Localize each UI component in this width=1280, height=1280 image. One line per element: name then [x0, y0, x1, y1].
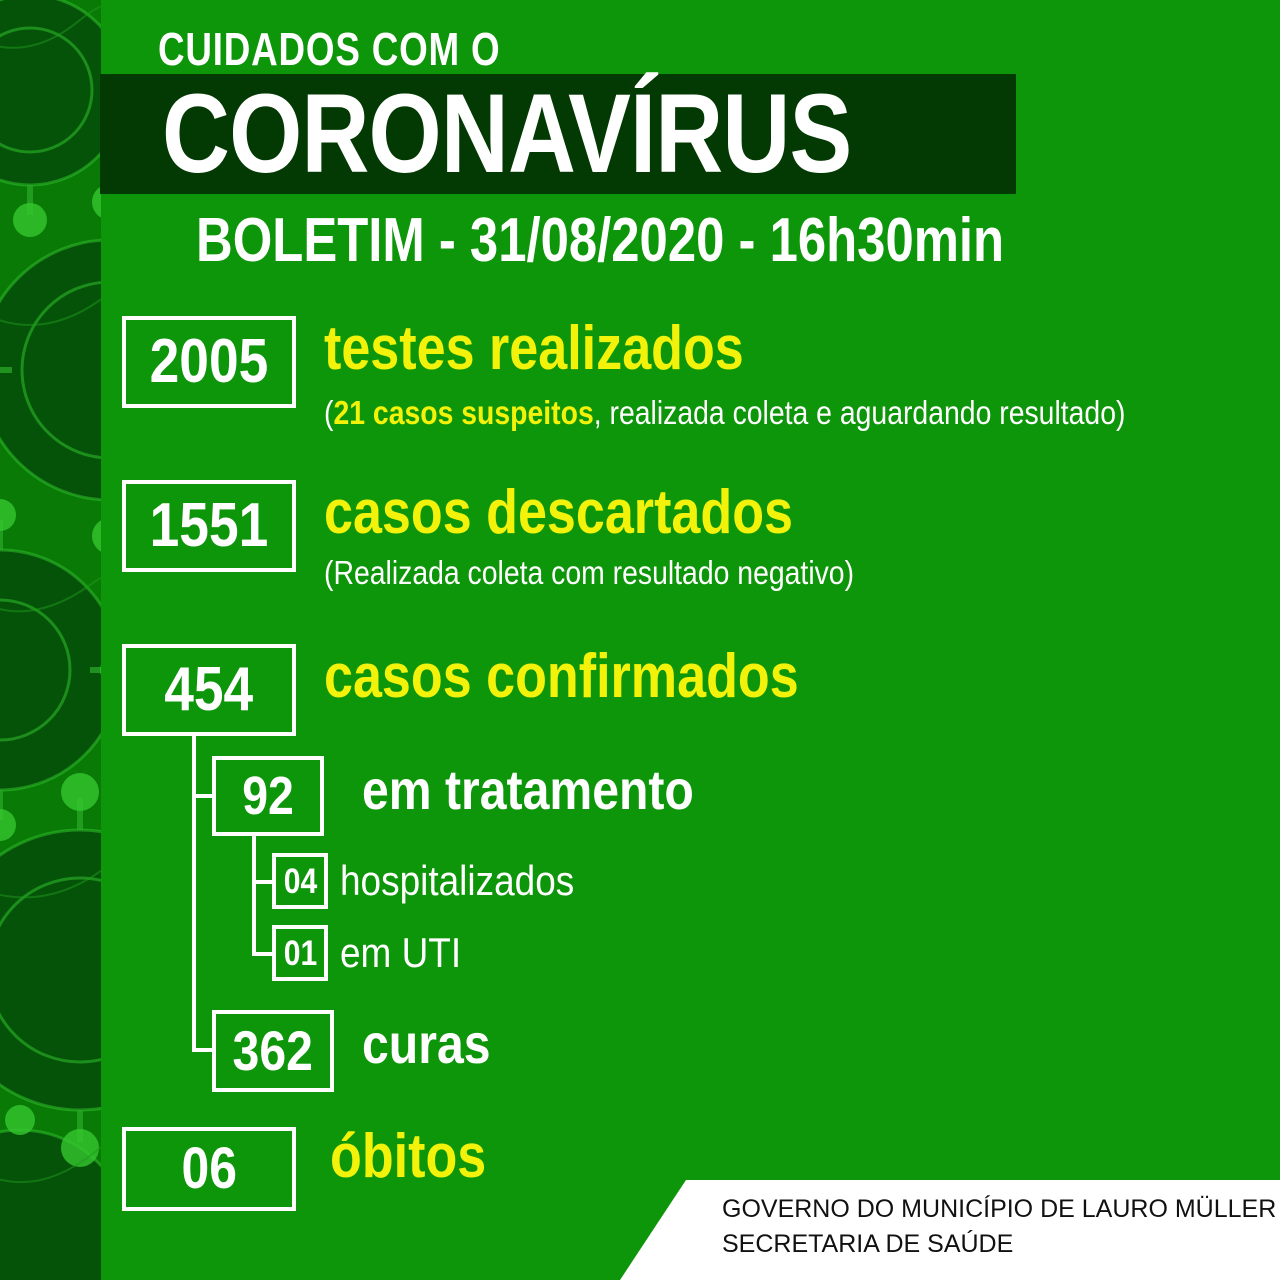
cured-value: 362: [233, 1023, 313, 1079]
icu-value-box: 01: [272, 925, 328, 981]
bulletin-subtitle: BOLETIM - 31/08/2020 - 16h30min: [196, 210, 1004, 272]
tree-trunk-treatment: [252, 836, 256, 956]
tests-note-open: (: [324, 394, 333, 431]
discarded-label: casos descartados: [324, 482, 793, 544]
tests-label: testes realizados: [324, 318, 744, 380]
icu-value: 01: [283, 936, 316, 971]
deaths-value-box: 06: [122, 1127, 296, 1211]
confirmed-value-box: 454: [122, 644, 296, 736]
treatment-value: 92: [242, 769, 294, 823]
discarded-value: 1551: [150, 495, 269, 557]
treatment-value-box: 92: [212, 756, 324, 836]
hospitalized-value-box: 04: [272, 853, 328, 909]
tests-value-box: 2005: [122, 316, 296, 408]
icu-label: em UTI: [340, 932, 461, 974]
hospitalized-label: hospitalizados: [340, 860, 574, 902]
footer-white-shape: [620, 1180, 1280, 1280]
kicker-text: CUIDADOS COM O: [158, 22, 500, 76]
footer-attribution: GOVERNO DO MUNICÍPIO DE LAURO MÜLLER SEC…: [722, 1192, 1276, 1262]
tests-note-highlight: 21 casos suspeitos: [333, 394, 593, 431]
footer-line-government: GOVERNO DO MUNICÍPIO DE LAURO MÜLLER: [722, 1192, 1276, 1227]
deaths-value: 06: [181, 1140, 236, 1198]
hospitalized-value: 04: [283, 864, 316, 899]
cured-label: curas: [362, 1016, 491, 1072]
cured-value-box: 362: [212, 1010, 334, 1092]
discarded-value-box: 1551: [122, 480, 296, 572]
tree-branch-treatment: [192, 794, 214, 798]
page-title: CORONAVÍRUS: [162, 78, 851, 190]
discarded-note: (Realizada coleta com resultado negativo…: [324, 556, 854, 589]
deaths-label: óbitos: [330, 1126, 486, 1188]
tree-branch-icu: [252, 952, 274, 956]
confirmed-value: 454: [165, 659, 254, 721]
tree-trunk-confirmed: [192, 736, 196, 1052]
tests-note-rest: , realizada coleta e aguardando resultad…: [594, 394, 1126, 431]
treatment-label: em tratamento: [362, 762, 694, 818]
virus-graphic-strip: [0, 0, 101, 1280]
footer-line-department: SECRETARIA DE SAÚDE: [722, 1227, 1276, 1262]
virus-illustration: [0, 0, 101, 1280]
tests-note: (21 casos suspeitos, realizada coleta e …: [324, 396, 1125, 429]
confirmed-label: casos confirmados: [324, 646, 799, 708]
tests-value: 2005: [150, 331, 269, 393]
tree-branch-hospitalized: [252, 880, 274, 884]
tree-branch-cured: [192, 1048, 214, 1052]
